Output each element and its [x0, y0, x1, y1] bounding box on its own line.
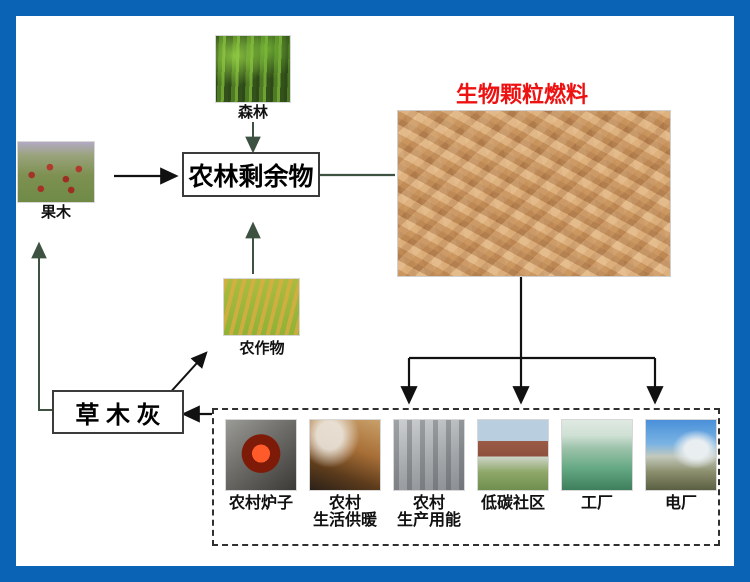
rural-stove-label: 农村炉子: [215, 495, 307, 512]
rural-stove-photo: [225, 419, 297, 491]
rural-heating-photo: [309, 419, 381, 491]
factory-label: 工厂: [551, 495, 643, 512]
edge-ash-to-fruittree: [39, 244, 52, 410]
plant-ash-box[interactable]: 草 木 灰: [52, 390, 184, 434]
rural-production-label: 农村 生产用能: [383, 495, 475, 530]
plant-ash-label: 草 木 灰: [75, 395, 160, 430]
factory-photo: [561, 419, 633, 491]
pellet-fuel-photo: [397, 110, 671, 277]
product-title: 生物颗粒燃料: [397, 77, 647, 109]
low-carbon-community-photo: [477, 419, 549, 491]
forestry-residue-label: 农林剩余物: [188, 157, 313, 193]
fruit-tree-photo: [17, 141, 95, 203]
diagram-canvas: 森林 果木 农作物 农林剩余物 草 木 灰 生物颗粒燃料 农村炉子 农村 生活供…: [16, 16, 734, 566]
screenshot-root: 森林 果木 农作物 农林剩余物 草 木 灰 生物颗粒燃料 农村炉子 农村 生活供…: [0, 0, 750, 582]
power-plant-label: 电厂: [635, 495, 727, 512]
crops-photo: [223, 278, 300, 336]
power-plant-photo: [645, 419, 717, 491]
forest-photo: [215, 35, 291, 103]
low-carbon-community-label: 低碳社区: [467, 495, 559, 512]
rural-heating-label: 农村 生活供暖: [299, 495, 391, 530]
crops-label: 农作物: [216, 341, 308, 357]
forest-label: 森林: [215, 105, 291, 121]
forestry-residue-box[interactable]: 农林剩余物: [182, 152, 320, 197]
fruit-tree-label: 果木: [17, 205, 95, 221]
rural-production-photo: [393, 419, 465, 491]
